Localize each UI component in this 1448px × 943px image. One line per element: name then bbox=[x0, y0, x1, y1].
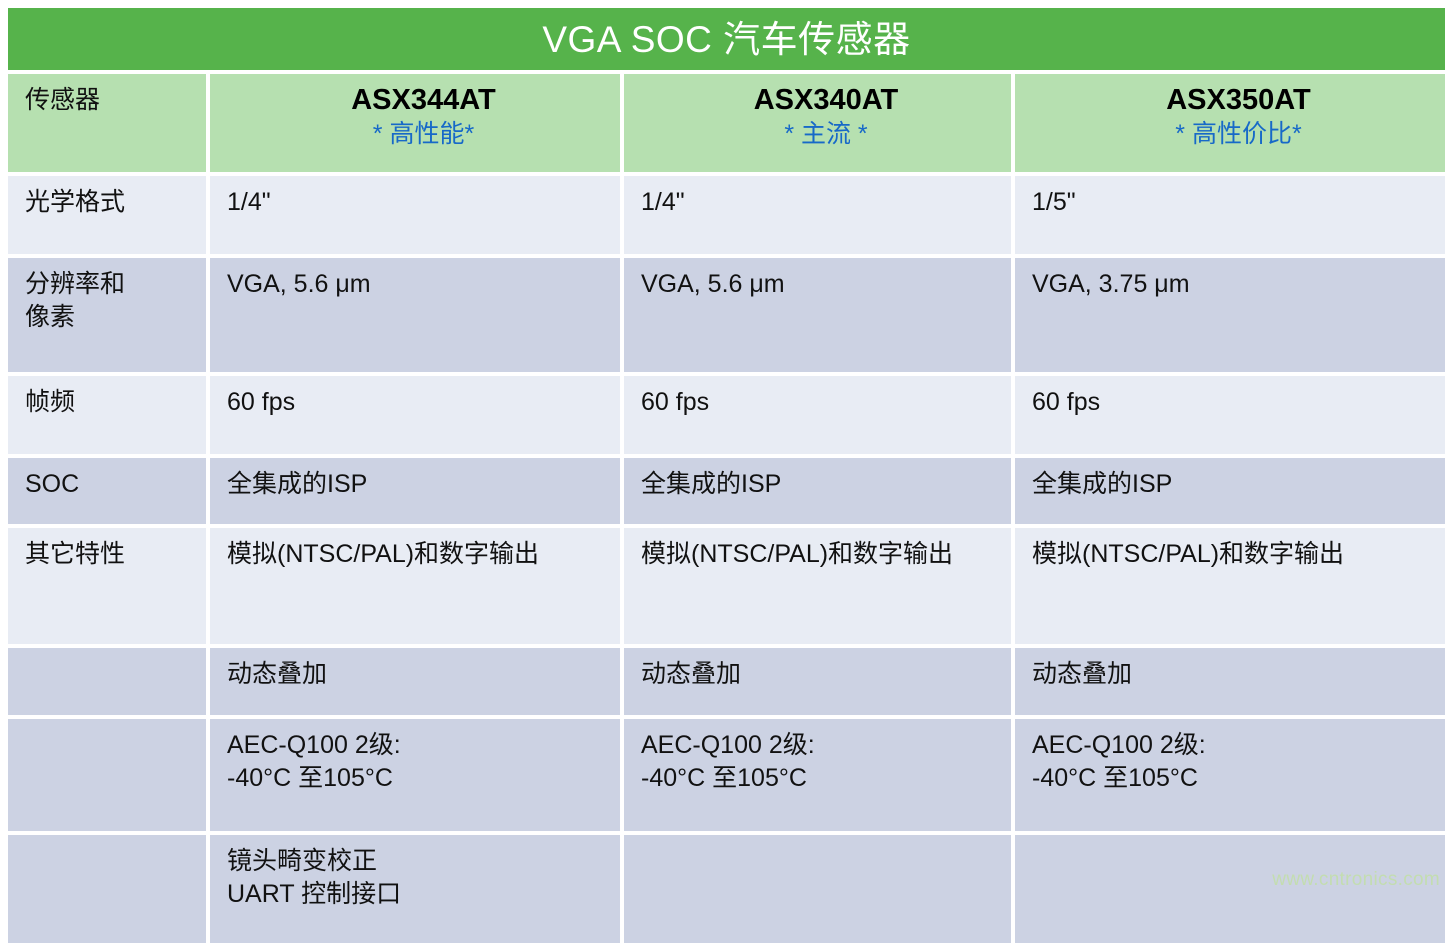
cell-dynamic-overlay-asx344at: 动态叠加 bbox=[210, 648, 624, 719]
row-label-resolution-line2: 像素 bbox=[25, 303, 75, 331]
slide-canvas: VGA SOC 汽车传感器 传感器 ASX344AT * 高性能* ASX340… bbox=[0, 0, 1448, 894]
table-row: 动态叠加 动态叠加 动态叠加 bbox=[8, 648, 1445, 719]
header-label-cell: 传感器 bbox=[8, 74, 210, 176]
cell-frame-rate-asx344at: 60 fps bbox=[210, 376, 624, 458]
table-row: 其它特性 模拟(NTSC/PAL)和数字输出 模拟(NTSC/PAL)和数字输出… bbox=[8, 528, 1445, 648]
page-title: VGA SOC 汽车传感器 bbox=[542, 21, 910, 58]
table-row: 分辨率和 像素 VGA, 5.6 μm VGA, 5.6 μm VGA, 3.7… bbox=[8, 258, 1445, 376]
sensor-comparison-table: 传感器 ASX344AT * 高性能* ASX340AT * 主流 * ASX3… bbox=[8, 74, 1445, 943]
table-header-row: 传感器 ASX344AT * 高性能* ASX340AT * 主流 * ASX3… bbox=[8, 74, 1445, 176]
cell-lens-correction-asx350at bbox=[1015, 835, 1445, 943]
cell-other-features-asx340at: 模拟(NTSC/PAL)和数字输出 bbox=[624, 528, 1015, 648]
cell-frame-rate-asx350at: 60 fps bbox=[1015, 376, 1445, 458]
cell-aec-asx344at: AEC-Q100 2级: -40°C 至105°C bbox=[210, 719, 624, 835]
cell-soc-asx350at: 全集成的ISP bbox=[1015, 458, 1445, 528]
cell-soc-asx340at: 全集成的ISP bbox=[624, 458, 1015, 528]
cell-optical-format-asx340at: 1/4" bbox=[624, 176, 1015, 258]
row-label-frame-rate: 帧频 bbox=[8, 376, 210, 458]
cell-aec-asx350at: AEC-Q100 2级: -40°C 至105°C bbox=[1015, 719, 1445, 835]
table-row: AEC-Q100 2级: -40°C 至105°C AEC-Q100 2级: -… bbox=[8, 719, 1445, 835]
table-row: 光学格式 1/4" 1/4" 1/5" bbox=[8, 176, 1445, 258]
cell-aec-asx350at-line2: -40°C 至105°C bbox=[1032, 764, 1198, 792]
cell-optical-format-asx350at: 1/5" bbox=[1015, 176, 1445, 258]
cell-resolution-asx350at: VGA, 3.75 μm bbox=[1015, 258, 1445, 376]
cell-resolution-asx344at: VGA, 5.6 μm bbox=[210, 258, 624, 376]
cell-lens-line1: 镜头畸变校正 bbox=[227, 847, 377, 875]
row-label-resolution-line1: 分辨率和 bbox=[25, 270, 125, 298]
row-label-other-features: 其它特性 bbox=[8, 528, 210, 648]
part-tag-1: * 高性能* bbox=[227, 119, 620, 150]
row-label-soc: SOC bbox=[8, 458, 210, 528]
table-row: SOC 全集成的ISP 全集成的ISP 全集成的ISP bbox=[8, 458, 1445, 528]
cell-aec-asx344at-line1: AEC-Q100 2级: bbox=[227, 731, 401, 759]
row-label-empty-aec bbox=[8, 719, 210, 835]
cell-soc-asx344at: 全集成的ISP bbox=[210, 458, 624, 528]
header-cell-asx340at: ASX340AT * 主流 * bbox=[624, 74, 1015, 176]
part-tag-3: * 高性价比* bbox=[1032, 119, 1445, 150]
table-row: 镜头畸变校正 UART 控制接口 bbox=[8, 835, 1445, 943]
cell-lens-correction-asx344at: 镜头畸变校正 UART 控制接口 bbox=[210, 835, 624, 943]
cell-optical-format-asx344at: 1/4" bbox=[210, 176, 624, 258]
cell-aec-asx340at: AEC-Q100 2级: -40°C 至105°C bbox=[624, 719, 1015, 835]
row-label-empty-lens bbox=[8, 835, 210, 943]
header-cell-asx350at: ASX350AT * 高性价比* bbox=[1015, 74, 1445, 176]
cell-frame-rate-asx340at: 60 fps bbox=[624, 376, 1015, 458]
row-label-empty-dynamic bbox=[8, 648, 210, 719]
title-banner: VGA SOC 汽车传感器 bbox=[8, 8, 1445, 70]
cell-lens-correction-asx340at bbox=[624, 835, 1015, 943]
cell-other-features-asx350at: 模拟(NTSC/PAL)和数字输出 bbox=[1015, 528, 1445, 648]
cell-aec-asx340at-line1: AEC-Q100 2级: bbox=[641, 731, 815, 759]
cell-aec-asx340at-line2: -40°C 至105°C bbox=[641, 764, 807, 792]
cell-dynamic-overlay-asx350at: 动态叠加 bbox=[1015, 648, 1445, 719]
cell-dynamic-overlay-asx340at: 动态叠加 bbox=[624, 648, 1015, 719]
part-number-1: ASX344AT bbox=[227, 84, 620, 117]
cell-aec-asx350at-line1: AEC-Q100 2级: bbox=[1032, 731, 1206, 759]
row-label-optical-format: 光学格式 bbox=[8, 176, 210, 258]
part-tag-2: * 主流 * bbox=[641, 119, 1011, 150]
part-number-2: ASX340AT bbox=[641, 84, 1011, 117]
part-number-3: ASX350AT bbox=[1032, 84, 1445, 117]
row-label-resolution-pixel: 分辨率和 像素 bbox=[8, 258, 210, 376]
table-row: 帧频 60 fps 60 fps 60 fps bbox=[8, 376, 1445, 458]
cell-aec-asx344at-line2: -40°C 至105°C bbox=[227, 764, 393, 792]
cell-resolution-asx340at: VGA, 5.6 μm bbox=[624, 258, 1015, 376]
cell-other-features-asx344at: 模拟(NTSC/PAL)和数字输出 bbox=[210, 528, 624, 648]
header-cell-asx344at: ASX344AT * 高性能* bbox=[210, 74, 624, 176]
